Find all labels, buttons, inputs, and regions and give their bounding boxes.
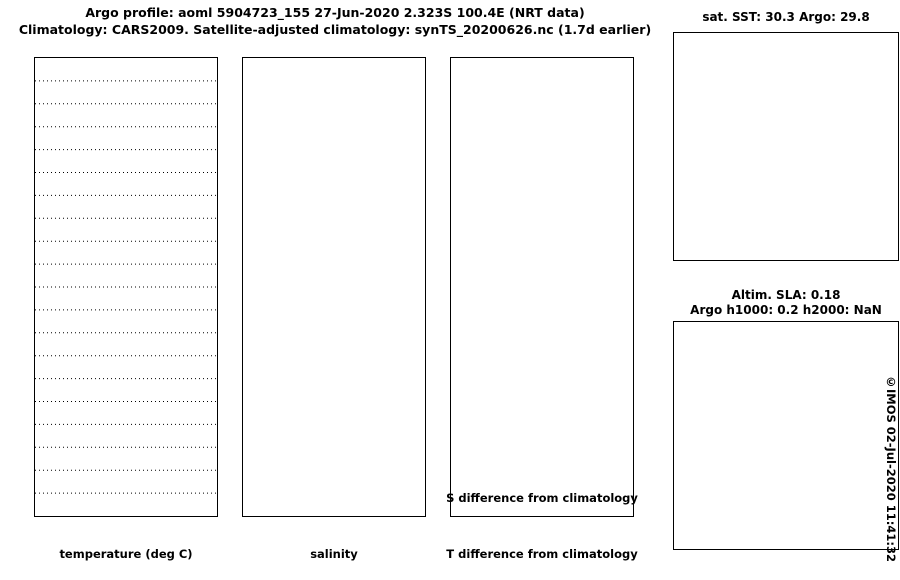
title-line-1: Argo profile: aoml 5904723_155 27-Jun-20… [0,4,670,21]
panel-difference [450,57,634,517]
salinity-axis-title: salinity [310,547,358,561]
panel-temperature [34,57,218,517]
title-line-2: Climatology: CARS2009. Satellite-adjuste… [0,21,670,38]
map-sla-canvas [674,322,898,549]
map-sst-canvas [674,33,898,260]
temperature-axis-title: temperature (deg C) [59,547,192,561]
map-sla-title-1: Altim. SLA: 0.18 [732,288,841,302]
copyright-text: ©IMOS 02-Jul-2020 11:41:32 [884,375,898,562]
map-sst [673,32,899,261]
panel-salinity [242,57,426,517]
difference-plot-area [451,58,633,516]
map-sla [673,321,899,550]
salinity-plot-area [243,58,425,516]
t-difference-axis-title: T difference from climatology [446,547,637,561]
map-sla-title-2: Argo h1000: 0.2 h2000: NaN [690,303,882,317]
temperature-plot-area [35,58,217,516]
figure-title: Argo profile: aoml 5904723_155 27-Jun-20… [0,4,670,38]
map-sst-title: sat. SST: 30.3 Argo: 29.8 [702,10,869,24]
s-difference-axis-title: S difference from climatology [446,491,638,505]
